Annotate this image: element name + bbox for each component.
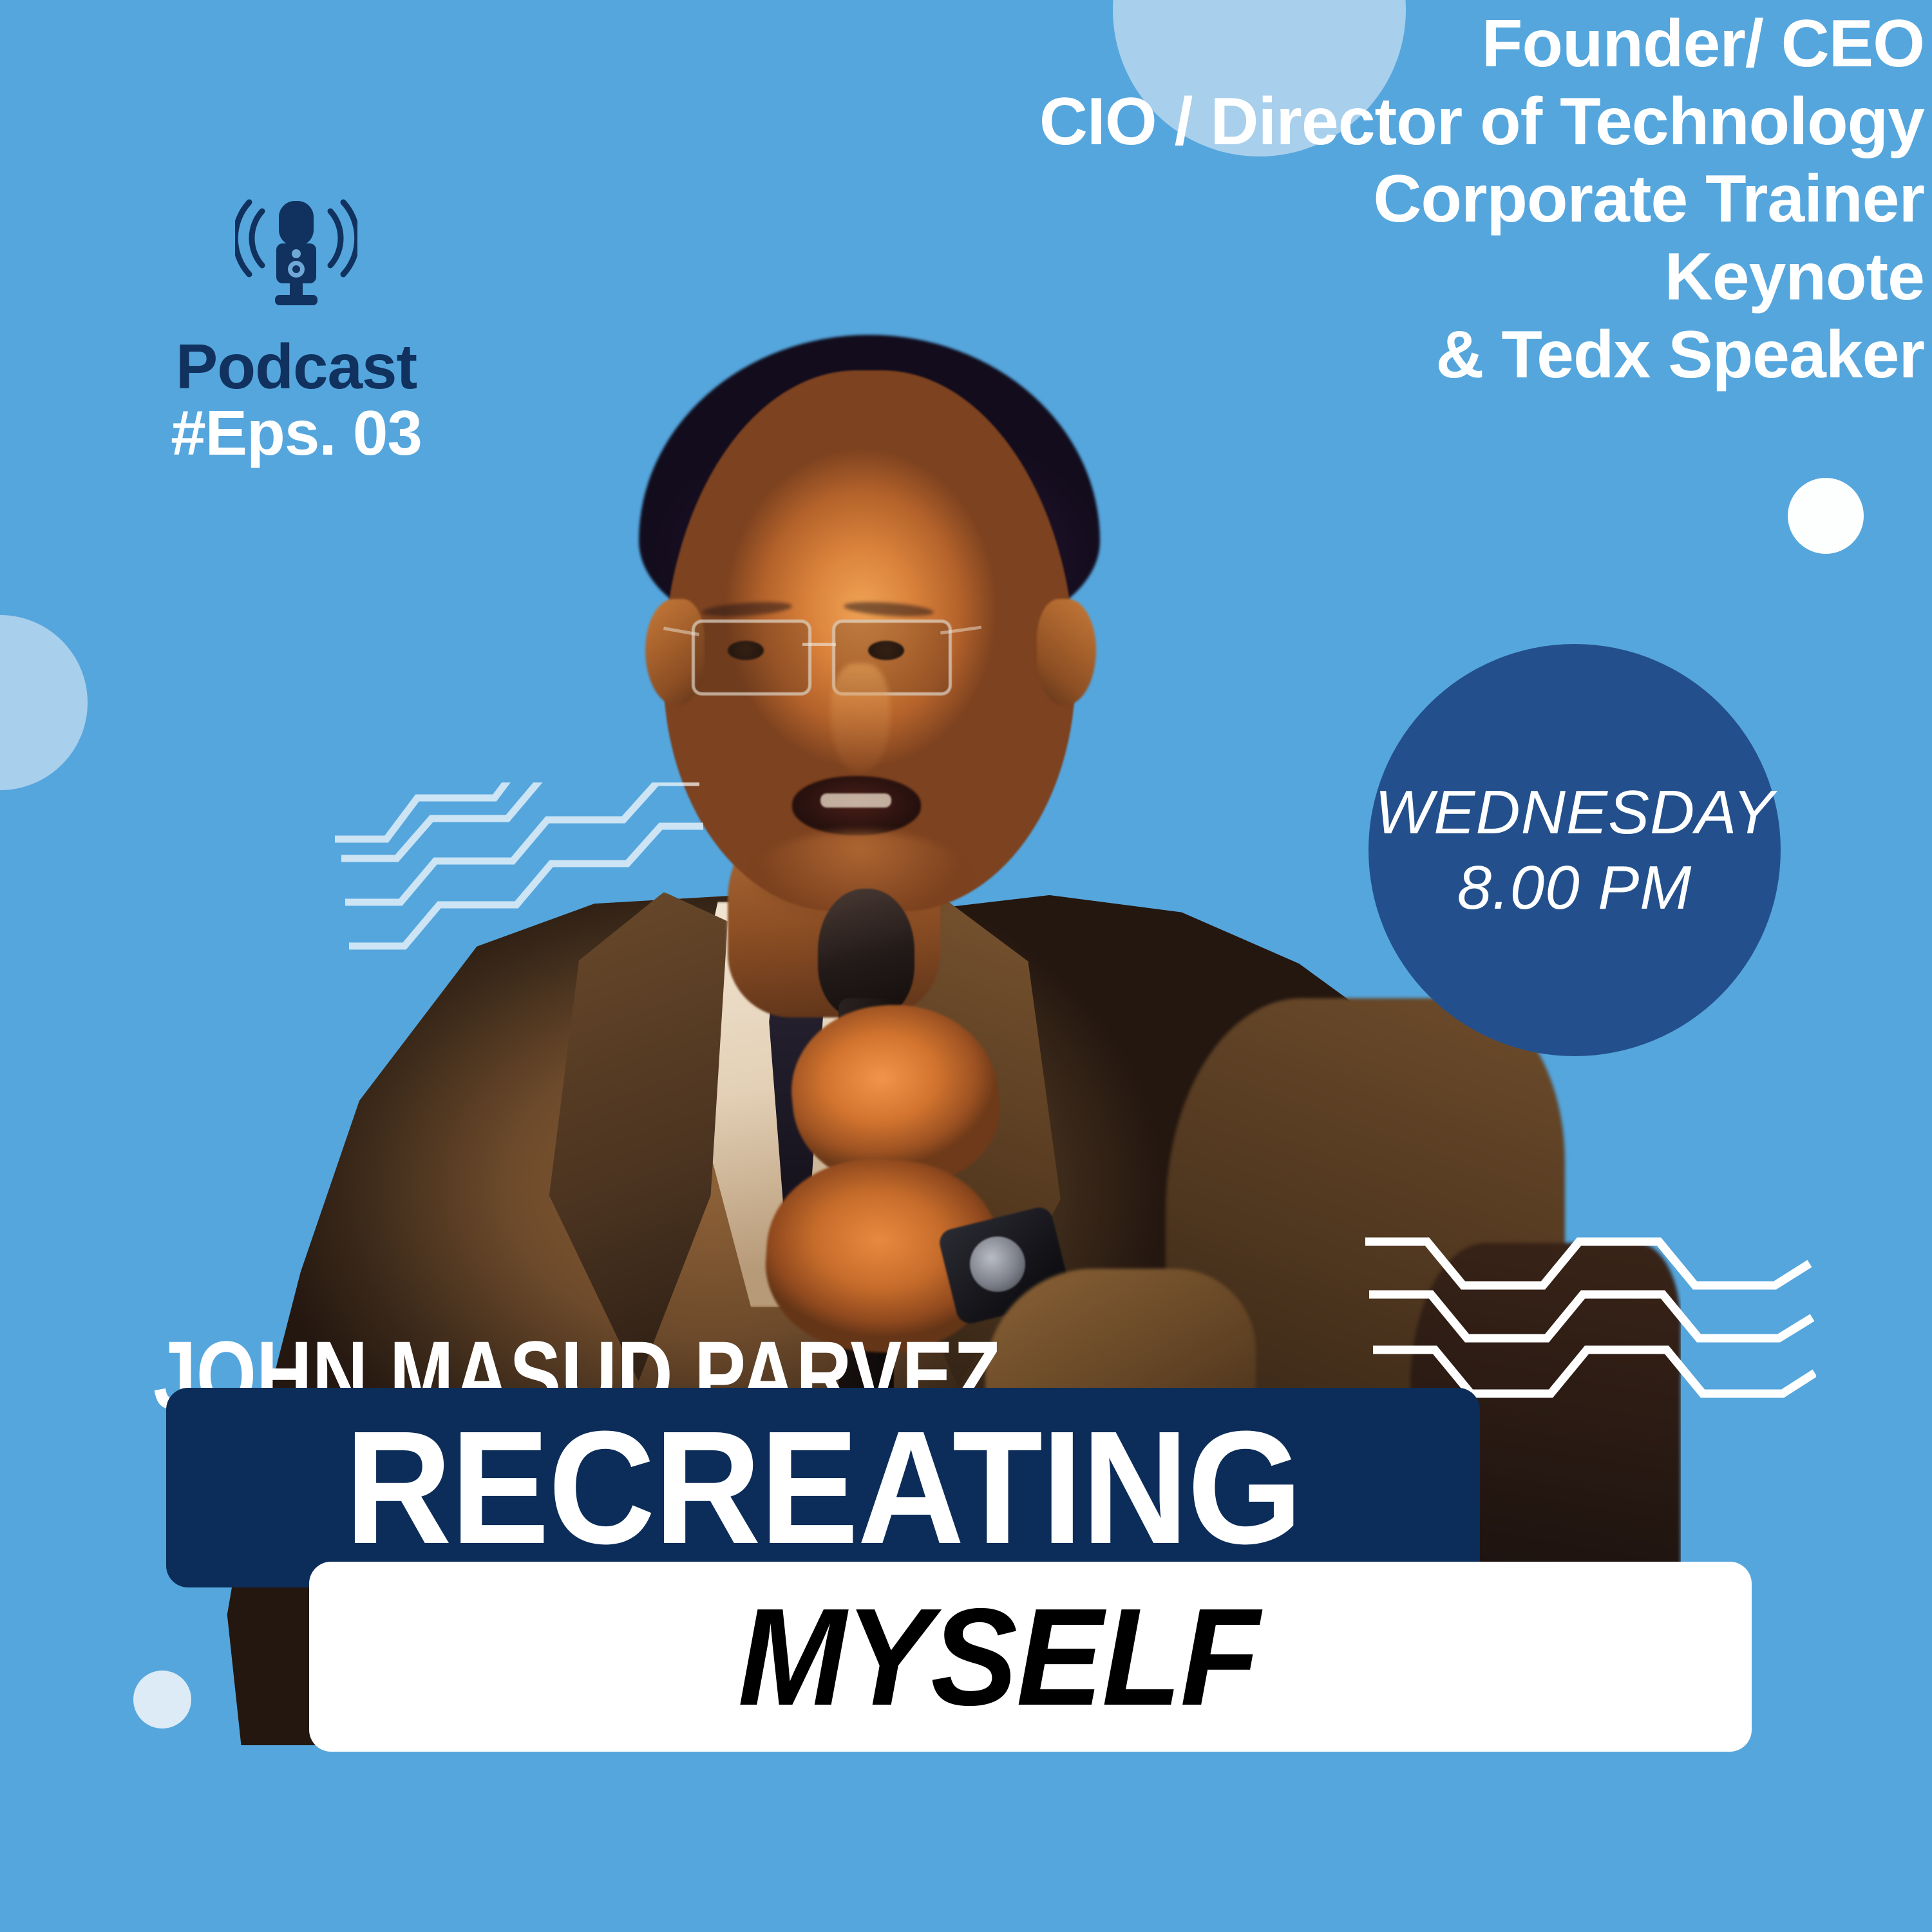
role-item-0: Founder/ CEO bbox=[701, 5, 1924, 83]
podcast-badge: Podcast #Eps. 03 bbox=[161, 187, 431, 469]
zigzag-left-icon bbox=[335, 782, 708, 995]
left-lens-shape bbox=[692, 620, 811, 696]
light-blue-circle-left bbox=[0, 615, 88, 790]
title-sub-box: MYSELF bbox=[309, 1562, 1752, 1752]
schedule-day: WEDNESDAY bbox=[1375, 775, 1775, 850]
podcast-promo-poster: Podcast #Eps. 03 Founder/ CEO CIO / Dire… bbox=[0, 0, 1932, 1932]
role-item-1: CIO / Director of Technology bbox=[701, 83, 1924, 161]
right-ear-shape bbox=[1037, 599, 1096, 705]
role-item-3: Keynote bbox=[701, 238, 1924, 316]
pale-dot bbox=[133, 1671, 191, 1728]
episode-label: #Eps. 03 bbox=[161, 398, 431, 469]
schedule-time: 8.00 PM bbox=[1457, 850, 1692, 925]
role-item-2: Corporate Trainer bbox=[701, 160, 1924, 238]
glasses-bridge-shape bbox=[802, 643, 836, 646]
teeth-shape bbox=[820, 793, 891, 808]
title-main-text: RECREATING bbox=[345, 1407, 1301, 1568]
title-main-box: RECREATING bbox=[166, 1388, 1480, 1587]
white-dot bbox=[1788, 478, 1864, 554]
role-item-4: & Tedx Speaker bbox=[701, 316, 1924, 394]
podcast-microphone-icon bbox=[235, 187, 357, 316]
nose-shape bbox=[831, 663, 890, 773]
roles-list: Founder/ CEO CIO / Director of Technolog… bbox=[701, 5, 1924, 393]
podcast-label: Podcast bbox=[161, 335, 431, 398]
schedule-badge: WEDNESDAY 8.00 PM bbox=[1368, 644, 1781, 1056]
title-sub-text: MYSELF bbox=[738, 1587, 1258, 1726]
